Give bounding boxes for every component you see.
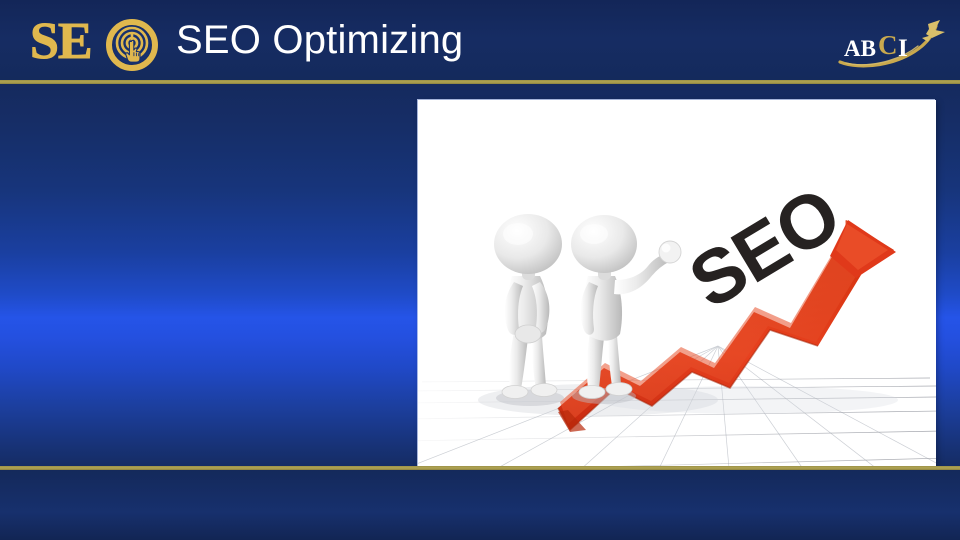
seo-logo: SE (30, 18, 160, 74)
abci-logo-i: I (898, 35, 908, 62)
page-title: SEO Optimizing (176, 16, 463, 64)
seo-growth-arrow-illustration: SEO (418, 100, 936, 479)
slide-header: SE (0, 0, 960, 80)
slide-canvas: SE (0, 0, 960, 540)
signal-waves-pointing-hand-icon (106, 19, 158, 71)
seo-logo-text: SE (30, 14, 92, 70)
abci-logo: AB C I (836, 18, 948, 70)
slide-footer: AB C I (0, 470, 960, 540)
abci-logo-c: C (878, 30, 898, 60)
content-image-panel: SEO (418, 100, 936, 479)
abci-logo-ab: AB (844, 36, 876, 61)
header-gold-divider (0, 80, 960, 84)
